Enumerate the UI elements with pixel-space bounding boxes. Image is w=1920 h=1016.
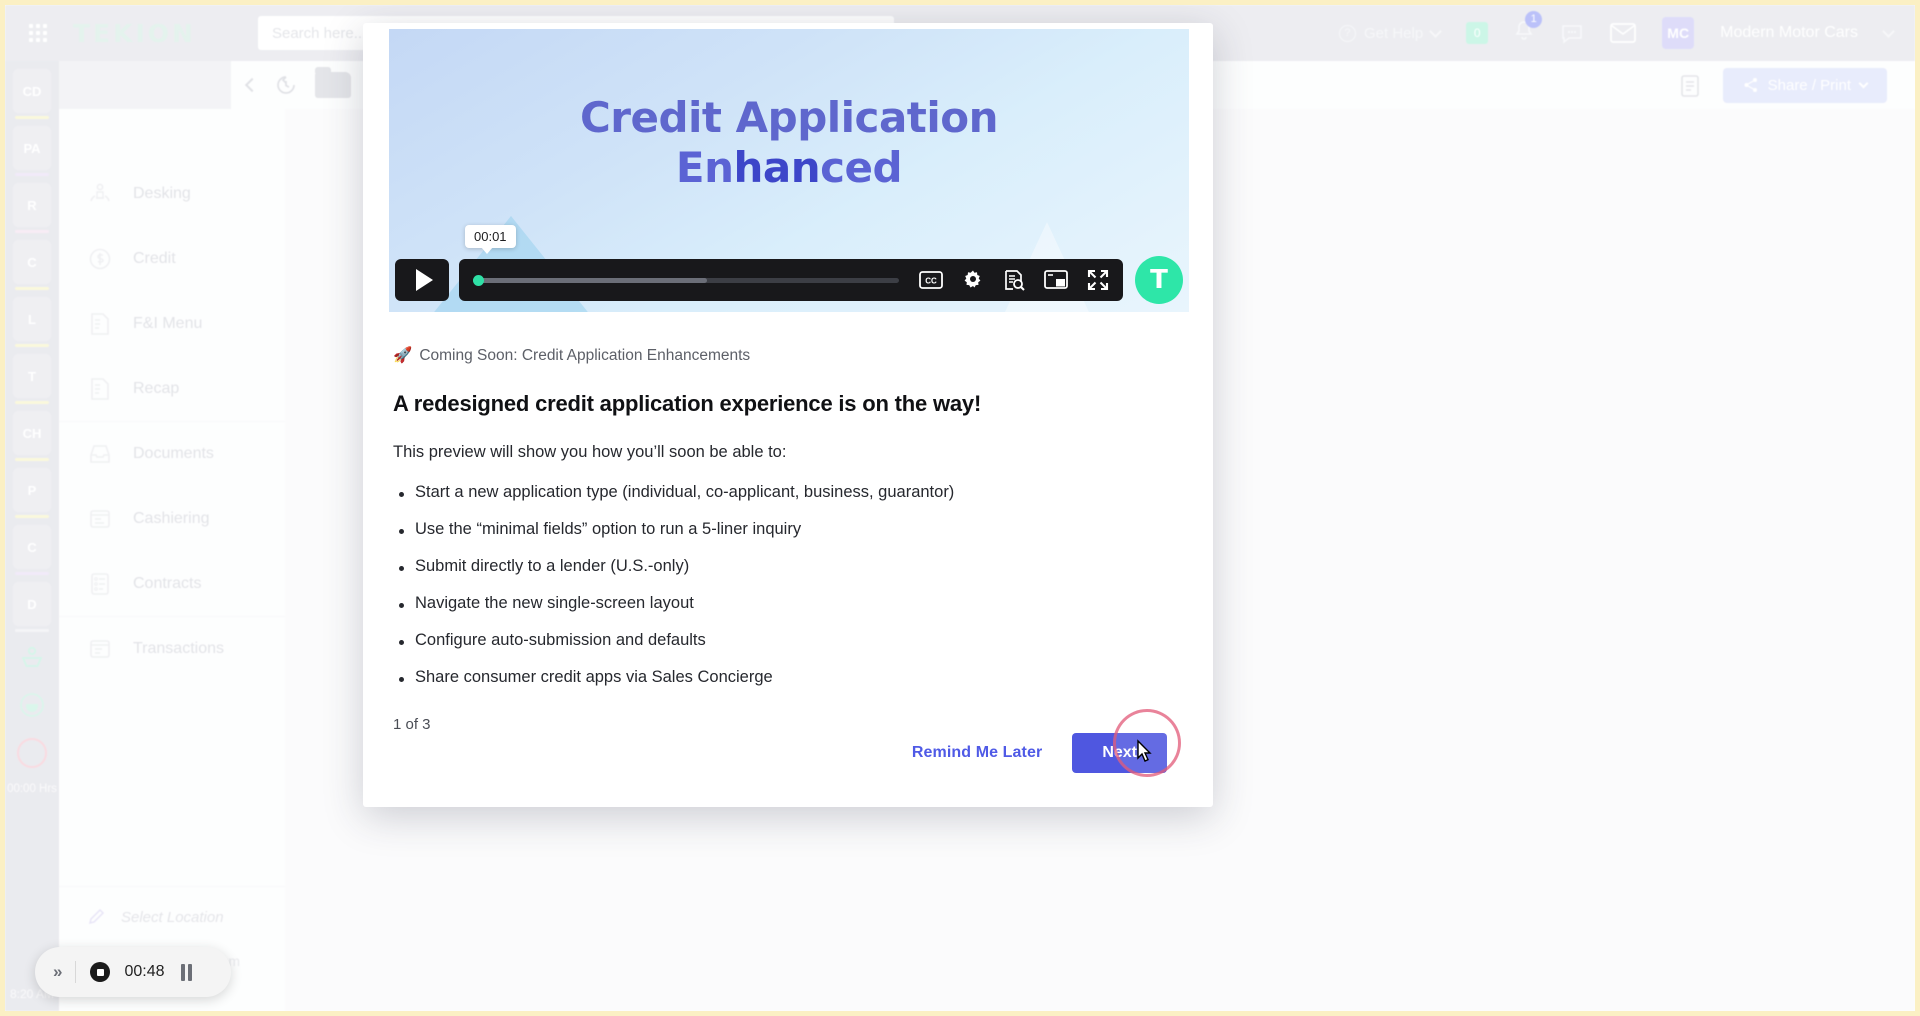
divider	[75, 961, 76, 983]
pencil-icon	[87, 907, 107, 927]
presenter-avatar[interactable]: T	[1135, 256, 1183, 304]
rail-label: T	[28, 369, 36, 384]
video-scrubber-bar[interactable]: 00:01 CC	[459, 259, 1123, 301]
sidebar-item-label: Contracts	[133, 575, 201, 593]
get-help-label: Get Help	[1364, 25, 1423, 42]
rail-item-c1[interactable]: C	[13, 240, 51, 284]
deal-jacket-folder-icon[interactable]	[315, 72, 351, 98]
fullscreen-icon[interactable]	[1087, 269, 1109, 291]
deal-sub-navigation: Desking Credit F&I Menu	[59, 109, 285, 1011]
rail-item-ch[interactable]: CH	[13, 411, 51, 455]
transactions-icon	[87, 636, 113, 662]
sidebar-item-transactions[interactable]: Transactions	[59, 616, 285, 681]
history-icon[interactable]	[275, 74, 297, 96]
cashiering-icon	[87, 506, 113, 532]
search-placeholder-text: Search here...	[272, 25, 366, 42]
list-item: Navigate the new single-screen layout	[393, 585, 1173, 622]
remind-me-later-link[interactable]: Remind Me Later	[912, 744, 1042, 762]
list-item: Share consumer credit apps via Sales Con…	[393, 659, 1173, 696]
rail-label: R	[27, 198, 36, 213]
left-module-rail: CD PA R C L T CH P C D	[5, 61, 59, 1011]
desking-icon	[87, 181, 113, 207]
queue-count-chip[interactable]: 0	[1466, 22, 1488, 44]
notifications-button[interactable]: 1	[1514, 20, 1534, 47]
tekion-logo: TEKION	[73, 19, 196, 48]
mail-icon[interactable]	[1610, 23, 1636, 43]
fi-menu-icon	[87, 311, 113, 337]
feature-bullet-list: Start a new application type (individual…	[393, 474, 1173, 696]
top-bar-right-actions: ? Get Help 0 1	[1339, 17, 1915, 49]
list-item: Submit directly to a lender (U.S.-only)	[393, 548, 1173, 585]
chat-bubble-icon[interactable]	[14, 687, 50, 723]
playhead-handle[interactable]	[473, 275, 484, 286]
sidebar-item-label: Transactions	[133, 640, 224, 658]
rail-label: P	[28, 483, 37, 498]
svg-text:CC: CC	[925, 277, 937, 286]
stop-record-icon[interactable]	[90, 962, 110, 982]
share-print-button[interactable]: Share / Print	[1723, 68, 1887, 103]
help-circle-icon: ?	[1339, 25, 1356, 42]
rail-label: PA	[23, 141, 40, 156]
video-title-line-2: Enhanced	[389, 143, 1189, 193]
rail-item-c2[interactable]: C	[13, 525, 51, 569]
rail-item-t[interactable]: T	[13, 354, 51, 398]
rail-label: D	[27, 597, 36, 612]
sidebar-item-label: F&I Menu	[133, 315, 202, 333]
share-icon	[1743, 77, 1759, 93]
video-title-line-1: Credit Application	[389, 93, 1189, 143]
dealer-name-label: Modern Motor Cars	[1720, 24, 1858, 42]
rail-item-p[interactable]: P	[13, 468, 51, 512]
chat-icon[interactable]	[1560, 21, 1584, 45]
back-chevron-icon[interactable]	[245, 78, 259, 92]
rail-hours-label: 00:00 Hrs	[7, 783, 57, 795]
rail-item-r[interactable]: R	[13, 183, 51, 227]
sidebar-item-label: Credit	[133, 250, 176, 268]
whats-new-modal: Credit Application Enhanced 00:01	[363, 23, 1213, 807]
page-indicator: 1 of 3	[393, 696, 1173, 733]
modal-body: 🚀 Coming Soon: Credit Application Enhanc…	[363, 312, 1213, 733]
rail-item-pa[interactable]: PA	[13, 126, 51, 170]
sidebar-item-label: Recap	[133, 380, 179, 398]
modal-footer: Remind Me Later Next	[363, 733, 1213, 807]
sidebar-item-fi-menu[interactable]: F&I Menu	[59, 291, 285, 356]
list-item: Configure auto-submission and defaults	[393, 622, 1173, 659]
get-help-button[interactable]: ? Get Help	[1339, 25, 1440, 42]
credit-icon	[87, 246, 113, 272]
rail-label: C	[27, 255, 36, 270]
share-print-label: Share / Print	[1768, 77, 1851, 94]
recap-icon	[87, 376, 113, 402]
buffered-range	[473, 278, 707, 283]
sidebar-item-credit[interactable]: Credit	[59, 226, 285, 291]
picture-in-picture-icon[interactable]	[1044, 270, 1068, 290]
transcript-search-icon[interactable]	[1003, 269, 1025, 291]
expand-recorder-button[interactable]: »	[53, 962, 61, 982]
modal-intro-text: This preview will show you how you’ll so…	[393, 443, 1173, 462]
modal-eyebrow-label: Coming Soon: Credit Application Enhancem…	[419, 347, 750, 365]
pause-icon[interactable]	[181, 964, 192, 981]
avatar[interactable]: MC	[1662, 17, 1694, 49]
sidebar-item-desking[interactable]: Desking	[59, 161, 285, 226]
rail-item-l[interactable]: L	[13, 297, 51, 341]
video-title-overlay: Credit Application Enhanced	[389, 93, 1189, 192]
select-location-row[interactable]: Select Location	[59, 886, 285, 927]
notification-badge: 1	[1525, 11, 1542, 28]
share-chevron-down-icon	[1859, 78, 1869, 88]
modal-heading: A redesigned credit application experien…	[393, 391, 1173, 417]
sidebar-item-label: Cashiering	[133, 510, 209, 528]
screen-recorder-pill: » 00:48	[35, 947, 231, 997]
video-controls-bar: 00:01 CC	[389, 248, 1189, 312]
next-button[interactable]: Next	[1072, 733, 1167, 773]
progress-track[interactable]	[473, 278, 899, 283]
time-tooltip: 00:01	[465, 225, 516, 248]
video-player[interactable]: Credit Application Enhanced 00:01	[389, 29, 1189, 312]
rail-label: CH	[23, 426, 42, 441]
sidebar-item-label: Documents	[133, 445, 214, 463]
rewards-badge-icon[interactable]	[14, 639, 50, 675]
dealer-chevron-down-icon[interactable]	[1882, 25, 1895, 38]
list-item: Use the “minimal fields” option to run a…	[393, 511, 1173, 548]
sidebar-item-cashiering[interactable]: Cashiering	[59, 486, 285, 551]
apps-grid-icon[interactable]	[29, 24, 47, 42]
notes-icon[interactable]	[1679, 72, 1701, 98]
chevron-down-icon	[1429, 25, 1442, 38]
rail-label: CD	[23, 84, 42, 99]
rail-item-d[interactable]: D	[13, 582, 51, 626]
sidebar-item-recap[interactable]: Recap	[59, 356, 285, 421]
gear-icon[interactable]	[962, 269, 984, 291]
rail-label: L	[28, 312, 36, 327]
contracts-icon	[87, 571, 113, 597]
play-button[interactable]	[395, 259, 449, 301]
sidebar-item-label: Desking	[133, 185, 191, 203]
rocket-icon: 🚀	[393, 346, 412, 365]
recording-timer: 00:48	[124, 963, 164, 981]
time-clock-icon[interactable]	[14, 735, 50, 771]
sidebar-item-documents[interactable]: Documents	[59, 421, 285, 486]
sidebar-item-contracts[interactable]: Contracts	[59, 551, 285, 616]
list-item: Start a new application type (individual…	[393, 474, 1173, 511]
deal-context-right: Share / Print	[1679, 68, 1915, 103]
documents-icon	[87, 441, 113, 467]
rail-item-cd[interactable]: CD	[13, 69, 51, 113]
modal-eyebrow: 🚀 Coming Soon: Credit Application Enhanc…	[393, 346, 1173, 365]
video-control-icons: CC	[919, 269, 1109, 291]
select-location-label: Select Location	[121, 909, 224, 926]
closed-captions-icon[interactable]: CC	[919, 271, 943, 289]
app-root: TEKION Search here... ? Get Help 0 1	[0, 0, 1920, 1016]
play-icon	[416, 269, 433, 291]
rail-label: C	[27, 540, 36, 555]
